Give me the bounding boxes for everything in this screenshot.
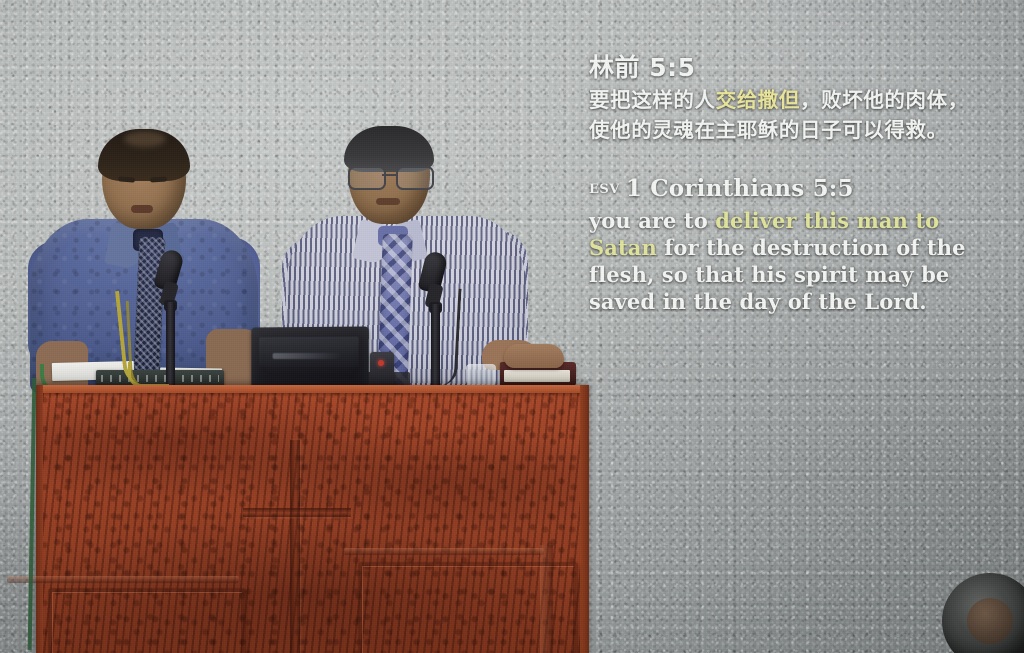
left-speaker-mouth: [131, 205, 153, 213]
chinese-verse-reference: 林前 5:5: [589, 54, 1009, 82]
left-speaker-hair: [98, 129, 190, 181]
microphone-right-cable: [429, 287, 461, 386]
podium-panel-right: [358, 562, 578, 653]
laptop-screen: [259, 337, 358, 367]
right-speaker-mouth: [376, 198, 400, 205]
chinese-text-line2: 使他的灵魂在主耶稣的日子可以得救。: [589, 118, 948, 142]
eyeglasses-lens-left: [348, 166, 386, 190]
laptop-screen-content: [273, 353, 343, 359]
english-verse-text: you are to deliver this man to Satan for…: [589, 208, 1009, 316]
hand-resting-on-bible: [504, 344, 564, 368]
cross-icon-vertical: [290, 440, 300, 653]
laptop: [251, 326, 368, 387]
podium-panel-left: [48, 588, 246, 653]
water-glass: [466, 364, 496, 386]
eyeglasses-lens-right: [396, 166, 434, 190]
podium-molding-right: [344, 548, 544, 555]
podium-right-edge: [580, 385, 589, 653]
recorder-led-indicator: [378, 360, 384, 366]
handheld-recorder: [370, 352, 394, 388]
bible-pages: [504, 370, 570, 382]
english-verse-reference: ESV1 Corinthians 5:5: [589, 175, 1009, 203]
english-verse-block: ESV1 Corinthians 5:5 you are to deliver …: [589, 175, 1009, 315]
podium-top-edge: [36, 385, 589, 393]
english-text-part1: you are to: [589, 208, 715, 233]
projected-scripture-slide: 林前 5:5 要把这样的人交给撒但，败坏他的肉体， 使他的灵魂在主耶稣的日子可以…: [589, 54, 1009, 316]
bible-version-tag: ESV: [589, 182, 620, 197]
chinese-text-highlight: 交给撒但: [716, 88, 800, 112]
english-reference-text: 1 Corinthians 5:5: [626, 175, 854, 202]
eyeglasses-icon: [346, 166, 432, 186]
eyeglasses-bridge: [382, 174, 396, 176]
screenshot-canvas: 林前 5:5 要把这样的人交给撒但，败坏他的肉体， 使他的灵魂在主耶稣的日子可以…: [0, 0, 1024, 653]
chinese-text-part2: ，败坏他的肉体，: [800, 88, 969, 112]
cross-icon-horizontal: [243, 508, 351, 517]
chinese-verse-text: 要把这样的人交给撒但，败坏他的肉体， 使他的灵魂在主耶稣的日子可以得救。: [589, 86, 1009, 145]
chinese-text-part1: 要把这样的人: [589, 88, 716, 112]
